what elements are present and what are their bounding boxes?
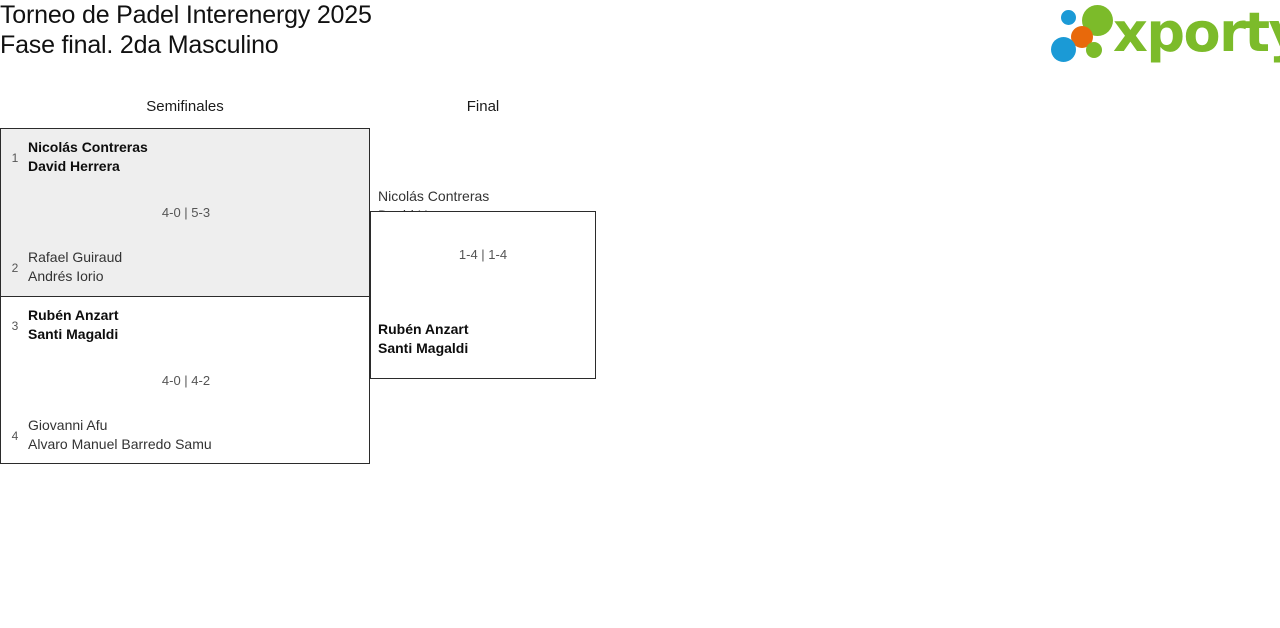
logo-dot-green-small [1086, 42, 1102, 58]
logo-dot-blue-large [1051, 37, 1076, 62]
seed-number: 1 [7, 151, 23, 165]
logo-wordmark: xporty [1113, 2, 1280, 64]
match-score: 4-0 | 4-2 [1, 373, 371, 389]
xporty-logo[interactable]: xporty [1049, 4, 1277, 66]
page-title: Torneo de Padel Interenergy 2025 Fase fi… [0, 0, 780, 60]
team-entry[interactable]: Rafael Guiraud Andrés Iorio [28, 248, 358, 286]
team-entry[interactable]: Rubén Anzart Santi Magaldi [378, 320, 594, 358]
player-name: Santi Magaldi [378, 339, 594, 358]
seed-number: 3 [7, 319, 23, 333]
player-name: David Herrera [28, 157, 358, 176]
seed-number: 4 [7, 429, 23, 443]
tournament-name: Torneo de Padel Interenergy 2025 [0, 0, 780, 30]
player-name: Nicolás Contreras [28, 138, 358, 157]
round-header-semifinales: Semifinales [60, 98, 310, 116]
player-name: Andrés Iorio [28, 267, 358, 286]
round-column-semifinales: 1 Nicolás Contreras David Herrera 4-0 | … [0, 128, 370, 464]
logo-dots-icon [1049, 4, 1115, 66]
team-entry[interactable]: Rubén Anzart Santi Magaldi [28, 306, 358, 344]
bracket-container: Semifinales Final 1 Nicolás Contreras Da… [0, 92, 1280, 492]
player-name: Rubén Anzart [28, 306, 358, 325]
page-header: Torneo de Padel Interenergy 2025 Fase fi… [0, 0, 1280, 80]
tournament-bracket-page: Torneo de Padel Interenergy 2025 Fase fi… [0, 0, 1280, 628]
seed-number: 2 [7, 261, 23, 275]
player-name: Giovanni Afu [28, 416, 358, 435]
tournament-phase: Fase final. 2da Masculino [0, 30, 780, 60]
player-name: Santi Magaldi [28, 325, 358, 344]
match-box[interactable]: 1 Nicolás Contreras David Herrera 4-0 | … [0, 128, 370, 296]
match-box[interactable]: 3 Rubén Anzart Santi Magaldi 4-0 | 4-2 4… [0, 296, 370, 464]
player-name: Rafael Guiraud [28, 248, 358, 267]
player-name: Nicolás Contreras [378, 187, 594, 206]
match-score: 1-4 | 1-4 [371, 247, 595, 263]
logo-dot-blue-small [1061, 10, 1076, 25]
team-entry[interactable]: Nicolás Contreras David Herrera [28, 138, 358, 176]
match-score: 4-0 | 5-3 [1, 205, 371, 221]
match-box[interactable]: 1-4 | 1-4 Rubén Anzart Santi Magaldi [370, 211, 596, 379]
round-header-final: Final [370, 98, 596, 116]
team-entry[interactable]: Giovanni Afu Alvaro Manuel Barredo Samu [28, 416, 358, 454]
round-column-final: Nicolás Contreras David Herrera 1-4 | 1-… [370, 128, 596, 464]
player-name: Rubén Anzart [378, 320, 594, 339]
player-name: Alvaro Manuel Barredo Samu [28, 435, 358, 454]
